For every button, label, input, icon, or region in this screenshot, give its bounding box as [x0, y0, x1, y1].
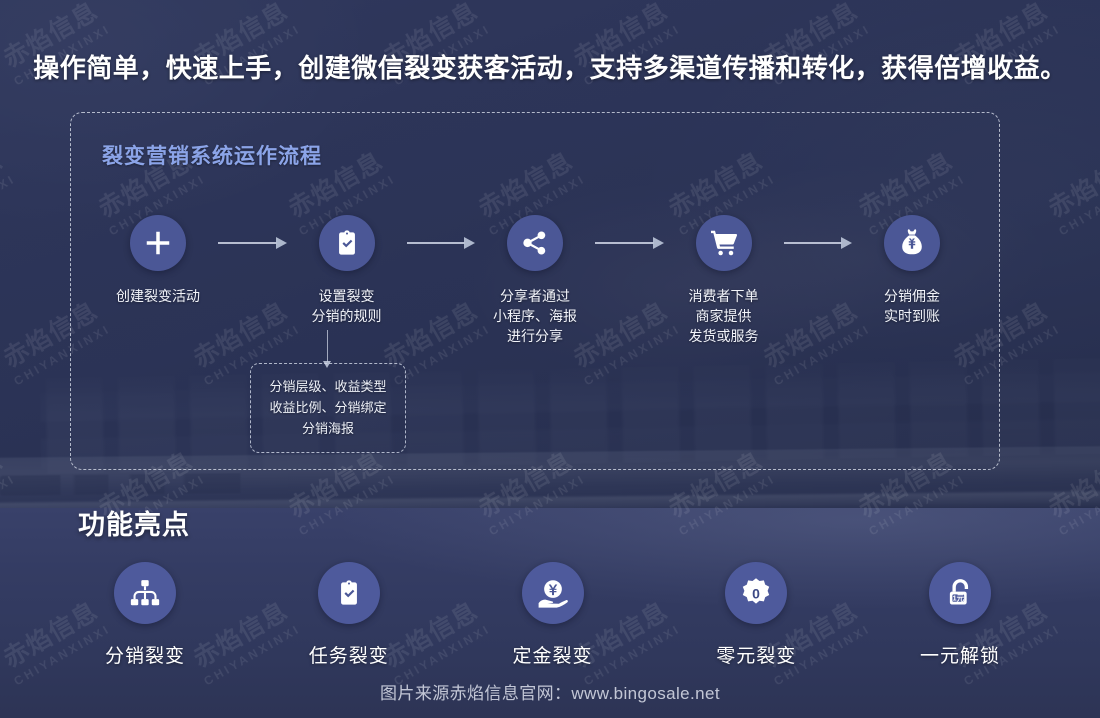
share-icon [507, 215, 563, 271]
flow-step: 分销佣金 实时到账 [852, 215, 972, 327]
flow-step: 分享者通过 小程序、海报 进行分享 [475, 215, 595, 347]
org-tree-icon [114, 562, 176, 624]
feature-item[interactable]: 0零元裂变 [671, 562, 841, 668]
flow-arrow-icon [407, 215, 476, 271]
feature-label: 一元解锁 [920, 641, 1000, 668]
flow-step-label: 消费者下单 商家提供 发货或服务 [689, 287, 759, 347]
plus-icon [130, 215, 186, 271]
feature-label: 定金裂变 [512, 641, 592, 668]
flow-step: 消费者下单 商家提供 发货或服务 [664, 215, 784, 347]
clipboard-check-icon [319, 215, 375, 271]
flow-arrow-icon [218, 215, 287, 271]
flow-connector-line [327, 330, 328, 362]
page-headline: 操作简单，快速上手，创建微信裂变获客活动，支持多渠道传播和转化，获得倍增收益。 [0, 48, 1100, 85]
flow-step-label: 创建裂变活动 [116, 287, 200, 307]
zero-badge-icon: 0 [725, 562, 787, 624]
unlock-1yuan-icon: 1元 [929, 562, 991, 624]
feature-label: 任务裂变 [309, 641, 389, 668]
flow-step: 创建裂变活动 [98, 215, 218, 307]
feature-label: 分销裂变 [105, 641, 185, 668]
money-bag-icon [884, 215, 940, 271]
flow-step-label: 分销佣金 实时到账 [884, 287, 940, 327]
feature-item[interactable]: 定金裂变 [468, 562, 638, 668]
feature-item[interactable]: 分销裂变 [60, 562, 230, 668]
feature-label: 零元裂变 [716, 641, 796, 668]
flow-diagram-title: 裂变营销系统运作流程 [102, 140, 322, 170]
svg-text:0: 0 [752, 585, 760, 601]
flow-step-label: 设置裂变 分销的规则 [312, 287, 382, 327]
feature-item[interactable]: 任务裂变 [264, 562, 434, 668]
clipboard-check-icon [318, 562, 380, 624]
flow-arrow-icon [595, 215, 664, 271]
hand-yuan-icon [522, 562, 584, 624]
source-footer: 图片来源赤焰信息官网：www.bingosale.net [0, 679, 1100, 704]
promo-graphic: 赤焰信息CHIYANXINXI赤焰信息CHIYANXINXI赤焰信息CHIYAN… [0, 0, 1100, 718]
flow-step: 设置裂变 分销的规则 [287, 215, 407, 327]
features-section-title: 功能亮点 [78, 503, 190, 542]
svg-text:1元: 1元 [952, 593, 964, 602]
flow-arrow-icon [784, 215, 853, 271]
flow-rule-detail-box: 分销层级、收益类型 收益比例、分销绑定 分销海报 [250, 363, 406, 453]
shopping-cart-icon [696, 215, 752, 271]
flow-step-label: 分享者通过 小程序、海报 进行分享 [493, 287, 577, 347]
features-row: 分销裂变任务裂变定金裂变0零元裂变1元一元解锁 [60, 562, 1045, 668]
feature-item[interactable]: 1元一元解锁 [875, 562, 1045, 668]
flow-steps-row: 创建裂变活动设置裂变 分销的规则分享者通过 小程序、海报 进行分享消费者下单 商… [70, 215, 1000, 355]
